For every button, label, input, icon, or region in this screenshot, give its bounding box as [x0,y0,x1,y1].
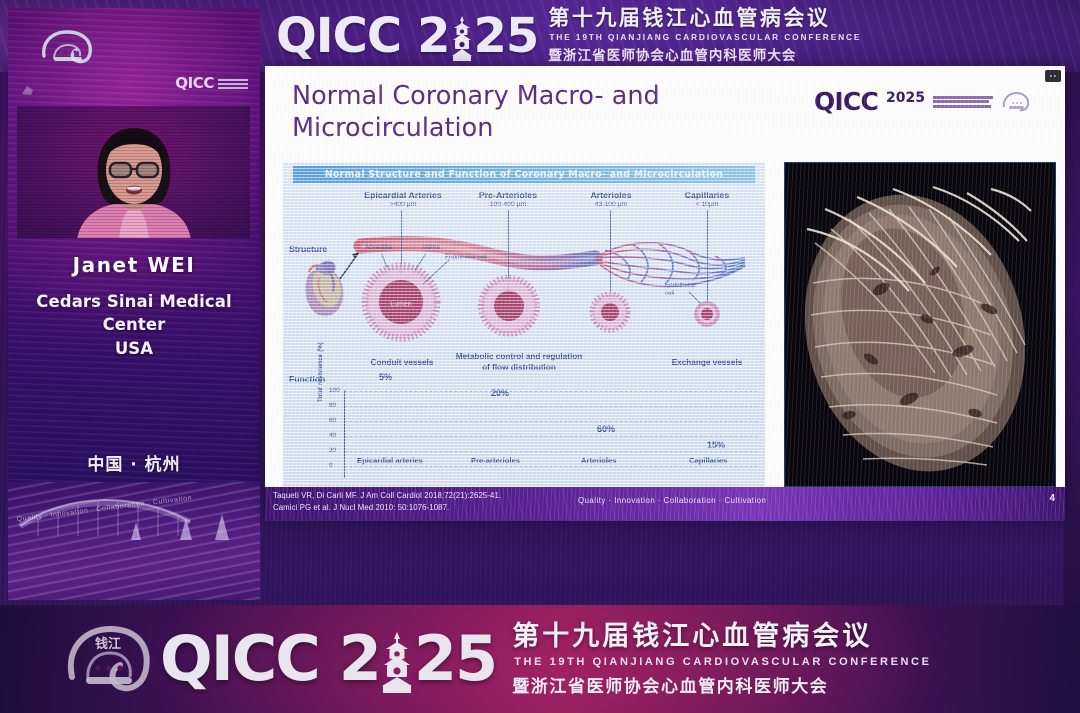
cross-label-intima: Intima [423,244,440,251]
speaker-country: USA [115,339,153,358]
pagoda-icon [382,629,412,689]
column-title: Arterioles [561,190,661,200]
speaker-name: Janet WEI [8,253,260,277]
chart-value-label: 15% [707,440,725,450]
header-en-title: THE 19TH QIANJIANG CARDIOVASCULAR CONFER… [549,32,861,42]
video-scanlines [17,106,250,238]
total-resistance-chart: Total resistance (%) 100 80 60 40 20 0 5… [319,380,759,480]
chart-y-axis [344,390,345,478]
qianjiang-emblem-icon: 钱江 [62,619,154,699]
slide-title: Normal Coronary Macro- and Microcirculat… [292,80,812,145]
chart-category-label: Epicardial arteries [357,456,423,465]
speaker-video-feed[interactable] [17,106,250,238]
panel-qicc-watermark: QICC [175,74,248,92]
column-size: >400 µm [343,201,463,208]
chart-ytick: 100 [329,387,340,394]
chart-gridline [345,451,759,452]
slide-qicc-logo: QICC 2025 [814,87,1031,116]
slide-logo-brand: QICC [814,87,878,116]
caption-conduit-vessels: Conduit vessels [345,358,459,367]
more-options-icon[interactable] [1045,70,1061,82]
chart-gridline [345,466,759,467]
column-title: Epicardial Arteries [343,190,463,200]
chart-value-label: 5% [379,372,392,382]
column-header-arterioles: Arterioles 43-100 µm [561,190,661,208]
panel-brand-cn-mark [218,77,248,89]
chart-ytick: 60 [329,417,336,424]
chart-category-label: Arterioles [581,456,616,465]
right-wall-strip [1064,0,1080,605]
column-size: < 10µm [658,201,756,208]
banner-cn-title: 第十九届钱江心血管病会议 [512,621,931,652]
speaker-panel: QICC [8,8,260,600]
chart-value-label: 60% [597,424,615,434]
column-title: Capillaries [658,190,756,200]
slide-footer: Taqueti VR, Di Carli MF. J Am Coll Cardi… [265,487,1065,521]
chart-gridline [345,436,759,437]
header-year-left: 2 [417,12,449,60]
banner-brand-qicc: QICC [160,628,319,690]
slide-number: 4 [1049,493,1055,504]
banner-en-title: THE 19TH QIANJIANG CARDIOVASCULAR CONFER… [514,656,931,668]
presentation-slide[interactable]: Normal Coronary Macro- and Microcirculat… [265,66,1065,521]
banner-cn-subtitle: 暨浙江省医师协会心血管内科医师大会 [512,672,931,697]
diagram-banner: Normal Structure and Function of Coronar… [293,166,755,183]
chart-ylabel: Total resistance (%) [317,342,324,402]
chart-gridline [345,421,759,422]
chart-category-label: Pre-arterioles [471,456,520,465]
column-header-epicardial: Epicardial Arteries >400 µm [343,190,463,208]
chart-category-label: Capillaries [689,456,727,465]
qianjiang-emblem-icon [1001,90,1031,114]
bridge-light-rays [8,482,260,600]
slide-logo-cn-mark [933,96,993,108]
column-size: 43-100 µm [561,201,661,208]
caption-exchange-vessels: Exchange vessels [655,358,759,367]
capillary-cast-micrograph [784,162,1056,487]
event-city: 中国 · 杭州 [8,450,260,475]
chart-gridline [345,391,759,392]
column-title: Pre-Arterioles [453,190,563,200]
cross-label-adventitia: Adventitia [365,244,392,251]
chart-ytick: 20 [329,447,336,454]
header-year-right: 25 [474,12,539,60]
citation-line-1: Taqueti VR, Di Carli MF. J Am Coll Cardi… [273,490,501,502]
row-label-structure: Structure [289,244,327,254]
bottom-conference-banner: 钱江 QICC 2 25 [0,605,1080,713]
chart-value-label: 20% [491,388,509,398]
small-mark-icon [21,84,35,97]
caption-metabolic-control: Metabolic control and regulation of flow… [451,352,587,373]
chart-gridline [345,406,759,407]
slide-logo-year: 2025 [886,91,925,105]
svg-text:钱江: 钱江 [95,636,121,652]
chart-ytick: 0 [329,462,333,469]
column-header-prearterioles: Pre-Arterioles 100-400 µm [453,190,563,208]
diagram-banner-text: Normal Structure and Function of Coronar… [325,169,723,180]
screenshot-root: QICC 2 [0,0,1080,713]
column-size: 100-400 µm [453,201,563,208]
coronary-circulation-diagram: Normal Structure and Function of Coronar… [283,162,765,487]
citation-line-2: Camici PG et al. J Nucl Med 2010: 50:107… [273,502,501,514]
speaker-institution: Cedars Sinai Medical Center [36,292,231,334]
pagoda-icon [451,13,473,59]
svg-text:Lumen: Lumen [390,301,412,308]
qianjiang-emblem-icon [38,26,96,68]
column-header-capillaries: Capillaries < 10µm [658,190,756,208]
banner-year-right: 25 [414,628,496,690]
chart-ytick: 40 [329,432,336,439]
banner-year-left: 2 [339,628,380,690]
header-brand-qicc: QICC [276,12,401,60]
bridge-graphic: Quality · Innovation · Collaboration · C… [8,482,260,600]
slide-citation: Taqueti VR, Di Carli MF. J Am Coll Cardi… [273,490,501,513]
panel-brand-label: QICC [175,74,214,92]
header-cn-subtitle: 暨浙江省医师协会心血管内科医师大会 [548,44,861,64]
slide-footer-motto: Quality · Innovation · Collaboration · C… [578,496,766,505]
speaker-affiliation: Cedars Sinai Medical Center USA [10,290,258,360]
header-cn-title: 第十九届钱江心血管病会议 [548,6,861,30]
chart-ytick: 80 [329,402,336,409]
